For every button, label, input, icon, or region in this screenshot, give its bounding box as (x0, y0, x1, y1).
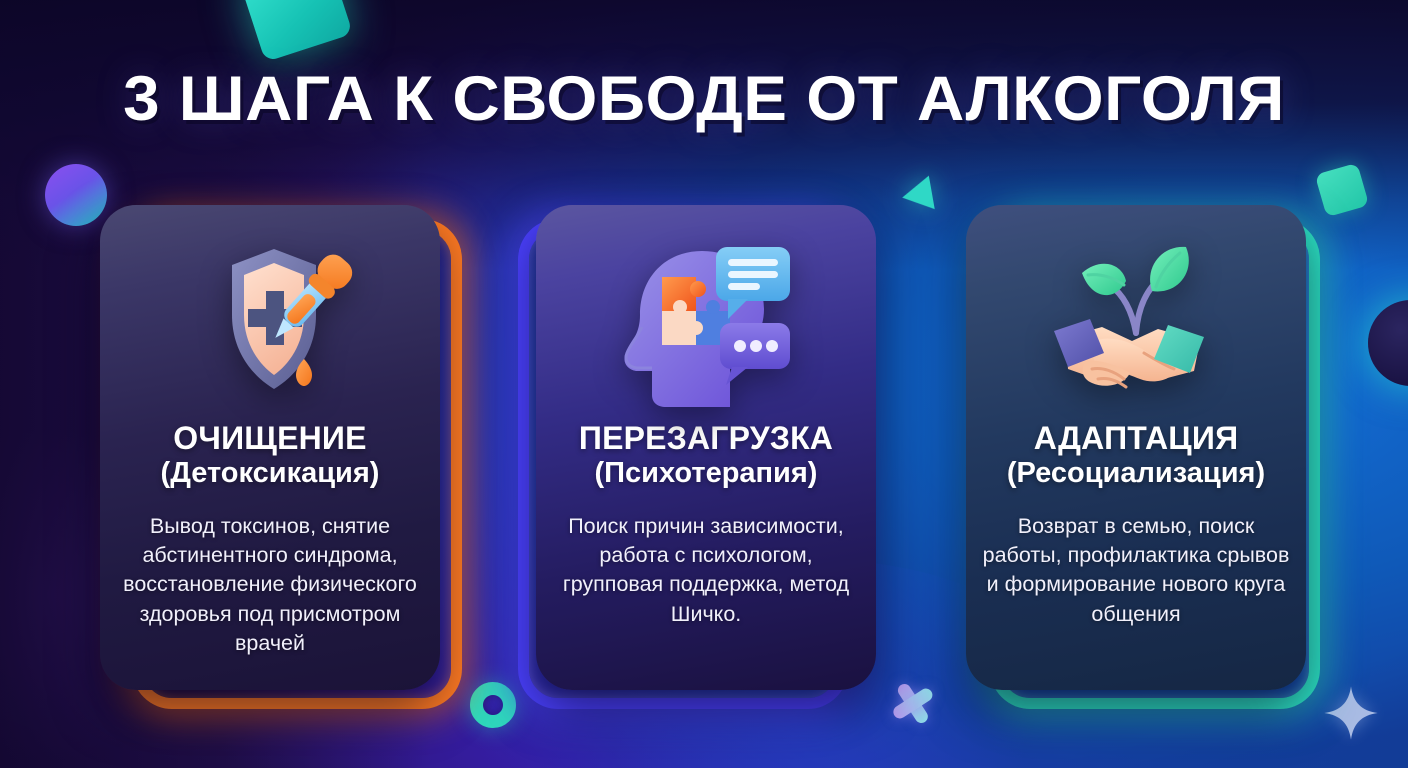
steps-container: ОЧИЩЕНИЕ (Детоксикация) Вывод токсинов, … (0, 0, 1408, 768)
card-description-step-1: Вывод токсинов, снятие абстинентного син… (100, 512, 440, 658)
step-card-2[interactable]: ПЕРЕЗАГРУЗКА (Психотерапия) Поиск причин… (536, 205, 876, 705)
handshake-sprout-icon (1036, 229, 1236, 419)
card-body-step-1: ОЧИЩЕНИЕ (Детоксикация) Вывод токсинов, … (100, 205, 440, 690)
card-description-step-3: Возврат в семью, поиск работы, профилакт… (966, 512, 1306, 629)
head-puzzle-chat-icon (606, 229, 806, 419)
card-subtitle-step-1: (Детоксикация) (161, 457, 380, 490)
card-subtitle-step-2: (Психотерапия) (595, 457, 818, 490)
card-title-step-3: АДАПТАЦИЯ (1034, 421, 1239, 457)
infographic-stage: 3 ШАГА К СВОБОДЕ ОТ АЛКОГОЛЯ (0, 0, 1408, 768)
shield-dropper-icon (170, 229, 370, 419)
step-card-3[interactable]: АДАПТАЦИЯ (Ресоциализация) Возврат в сем… (966, 205, 1306, 705)
card-body-step-2: ПЕРЕЗАГРУЗКА (Психотерапия) Поиск причин… (536, 205, 876, 690)
card-title-step-2: ПЕРЕЗАГРУЗКА (579, 421, 833, 457)
card-description-step-2: Поиск причин зависимости, работа с психо… (536, 512, 876, 629)
card-subtitle-step-3: (Ресоциализация) (1007, 457, 1265, 490)
card-title-step-1: ОЧИЩЕНИЕ (173, 421, 366, 457)
step-card-1[interactable]: ОЧИЩЕНИЕ (Детоксикация) Вывод токсинов, … (100, 205, 440, 705)
card-body-step-3: АДАПТАЦИЯ (Ресоциализация) Возврат в сем… (966, 205, 1306, 690)
